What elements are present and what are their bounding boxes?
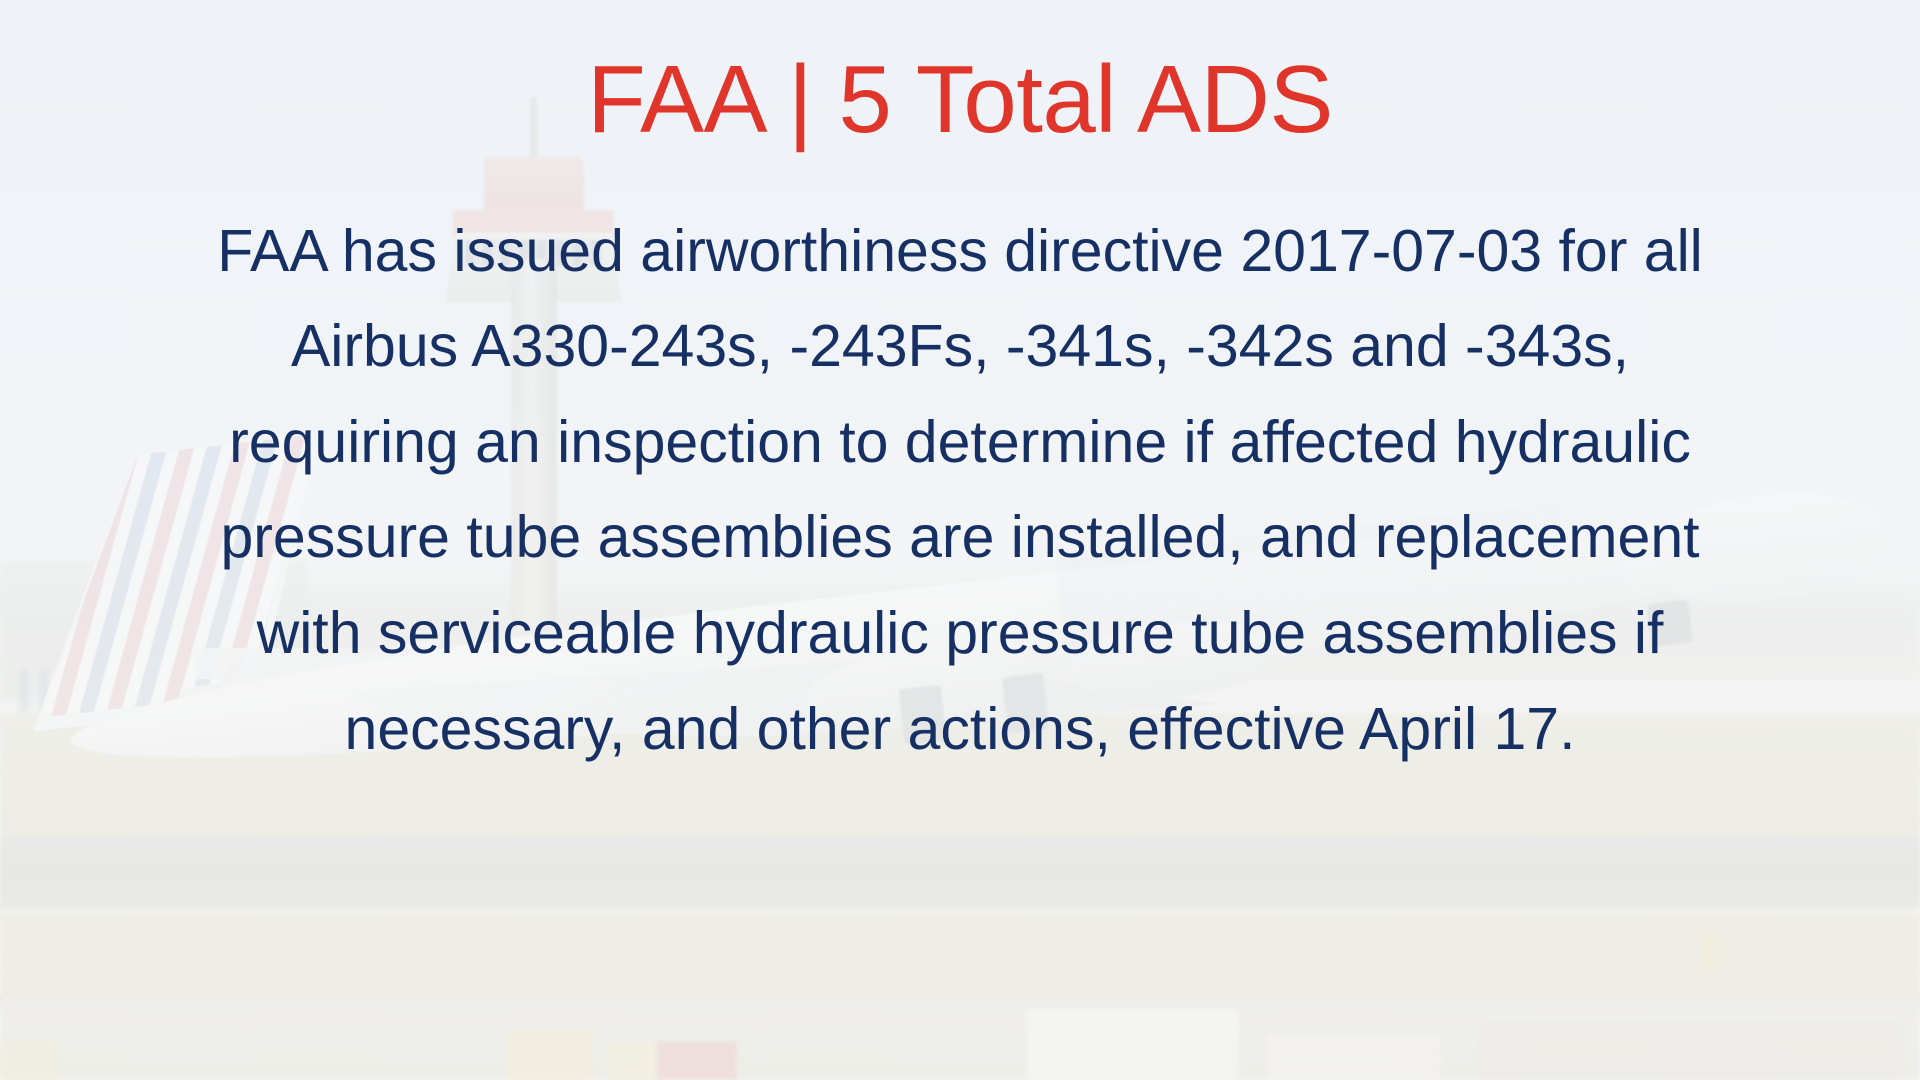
slide-content: FAA | 5 Total ADS FAA has issued airwort…: [0, 0, 1920, 1080]
body-line: pressure tube assemblies are installed, …: [210, 490, 1710, 586]
body-line: FAA has issued airworthiness directive 2…: [210, 204, 1710, 300]
body-line: requiring an inspection to determine if …: [210, 395, 1710, 491]
slide-title: FAA | 5 Total ADS: [587, 48, 1333, 152]
presentation-slide: FAA | 5 Total ADS FAA has issued airwort…: [0, 0, 1920, 1080]
body-line: necessary, and other actions, effective …: [210, 682, 1710, 778]
body-line: Airbus A330-243s, -243Fs, -341s, -342s a…: [210, 299, 1710, 395]
body-line: with serviceable hydraulic pressure tube…: [210, 586, 1710, 682]
slide-body-text: FAA has issued airworthiness directive 2…: [210, 204, 1710, 777]
